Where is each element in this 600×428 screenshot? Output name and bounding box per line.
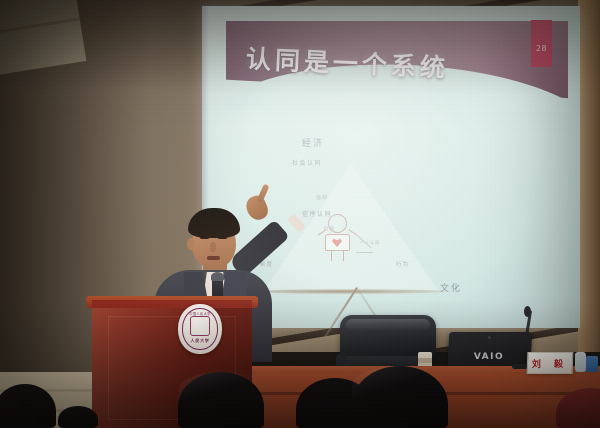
microphone-grille-icon [211, 272, 224, 281]
pyramid-apex-label: 经济 [302, 136, 324, 149]
audience-head [58, 406, 98, 428]
name-card-text: 刘 毅 [527, 357, 573, 370]
pyramid-base-label: 文化 [440, 281, 462, 294]
paper-cup-band [418, 358, 432, 363]
presenter-hair [188, 208, 240, 238]
pyramid-corner-label-right: 行为 [396, 260, 409, 268]
crest-bottom-text: 人民大学 [182, 338, 218, 344]
presenter-mouth [207, 256, 220, 260]
gooseneck-microphone-head [524, 306, 531, 317]
wall-right-strip [578, 0, 600, 400]
presenter-nose [210, 242, 216, 252]
pyramid-level-2-label: 信仰 [316, 194, 328, 201]
pyramid-base-line [256, 289, 446, 294]
laptop-brand-logo: VAIO [465, 352, 513, 362]
laptop-hinge-dot [488, 336, 491, 339]
blue-box-item [586, 356, 598, 372]
chair-highlight [346, 319, 430, 331]
crest-top-text: 中国人民大学 [182, 311, 218, 316]
microphone-base [512, 364, 528, 369]
crest-inner-mark [190, 316, 210, 336]
water-bottle [575, 352, 586, 372]
slide-page-number: 28 [531, 44, 552, 53]
pyramid-level-1-label: 社会认同 [292, 158, 322, 167]
presenter-ear [187, 238, 195, 250]
person-with-heart-icon [316, 214, 360, 262]
photograph-scene: 认同是一个系统 28 经济 社会认同 信仰 信序认同 价值 制度 行为 个人认同… [0, 0, 600, 428]
